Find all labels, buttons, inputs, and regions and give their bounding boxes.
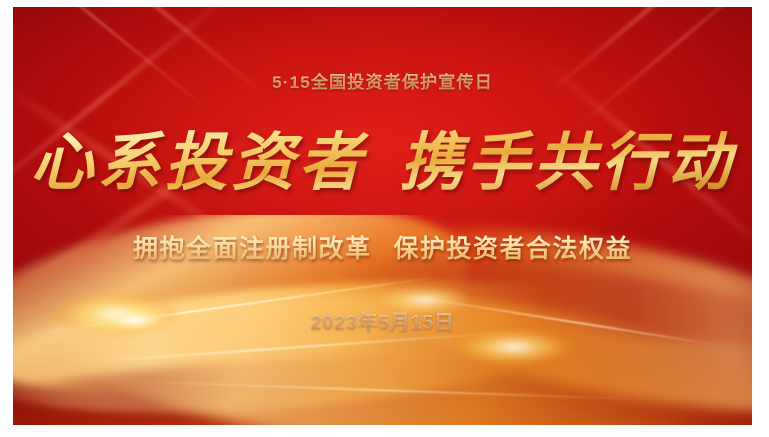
subtitle-phrase-first: 拥抱全面注册制改革 <box>133 235 372 263</box>
poster-panel: 5·15全国投资者保护宣传日 心系投资者携手共行动 拥抱全面注册制改革保护投资者… <box>13 7 752 425</box>
poster-text-content: 5·15全国投资者保护宣传日 心系投资者携手共行动 拥抱全面注册制改革保护投资者… <box>13 7 752 425</box>
headline-phrase-second: 携手共行动 <box>400 128 735 198</box>
poster-subtitle: 拥抱全面注册制改革保护投资者合法权益 <box>13 229 752 265</box>
poster-date-text: 2023年5月15日 <box>13 306 752 335</box>
headline-phrase-first: 心系投资者 <box>31 128 366 198</box>
poster-root: 5·15全国投资者保护宣传日 心系投资者携手共行动 拥抱全面注册制改革保护投资者… <box>0 0 769 437</box>
campaign-eyebrow-text: 5·15全国投资者保护宣传日 <box>13 68 752 93</box>
poster-headline: 心系投资者携手共行动 <box>13 125 752 201</box>
subtitle-phrase-second: 保护投资者合法权益 <box>394 235 633 263</box>
